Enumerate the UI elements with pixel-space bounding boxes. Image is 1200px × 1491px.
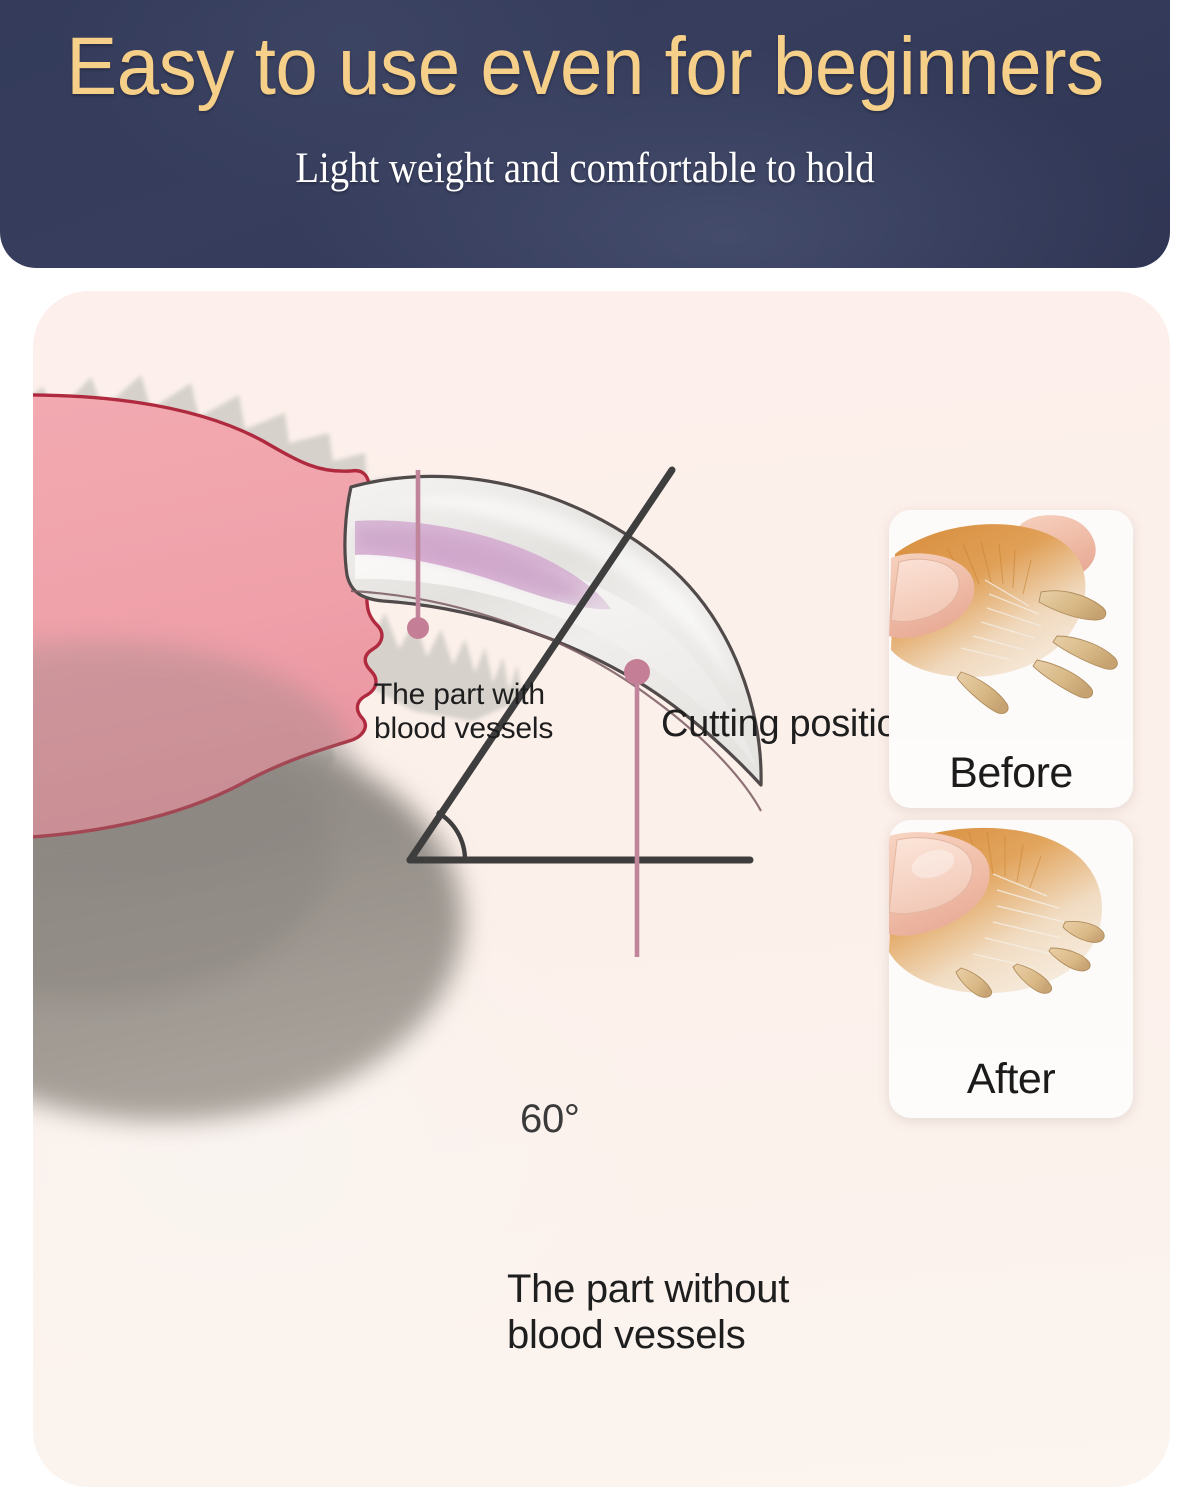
blood-vessel-region — [355, 520, 611, 609]
page-title: Easy to use even for beginners — [41, 26, 1129, 108]
leader-without-vessels — [624, 659, 650, 957]
label-part-without-blood-vessels: The part without blood vessels — [507, 1266, 789, 1358]
after-caption: After — [889, 1055, 1133, 1104]
page-subtitle: Light weight and comfortable to hold — [59, 147, 1112, 190]
before-photo-card: Before — [889, 510, 1133, 808]
toe-pad — [33, 395, 382, 881]
angle-arc — [437, 812, 465, 860]
label-angle-60: 60° — [520, 1097, 580, 1142]
claw — [345, 476, 761, 811]
before-paw-photo — [889, 510, 1133, 740]
after-paw-photo — [889, 820, 1133, 1050]
content-card: The part with blood vessels Cutting posi… — [33, 291, 1170, 1487]
paw-pad — [33, 701, 463, 1121]
label-part-with-blood-vessels: The part with blood vessels — [374, 678, 553, 745]
cutting-line — [410, 470, 672, 860]
header-banner: Easy to use even for beginners Light wei… — [0, 0, 1170, 268]
before-caption: Before — [889, 749, 1133, 798]
label-cutting-position: Cutting position — [661, 703, 918, 746]
after-photo-card: After — [889, 820, 1133, 1118]
leader-with-vessels — [407, 470, 429, 639]
fur-upper — [33, 375, 437, 573]
